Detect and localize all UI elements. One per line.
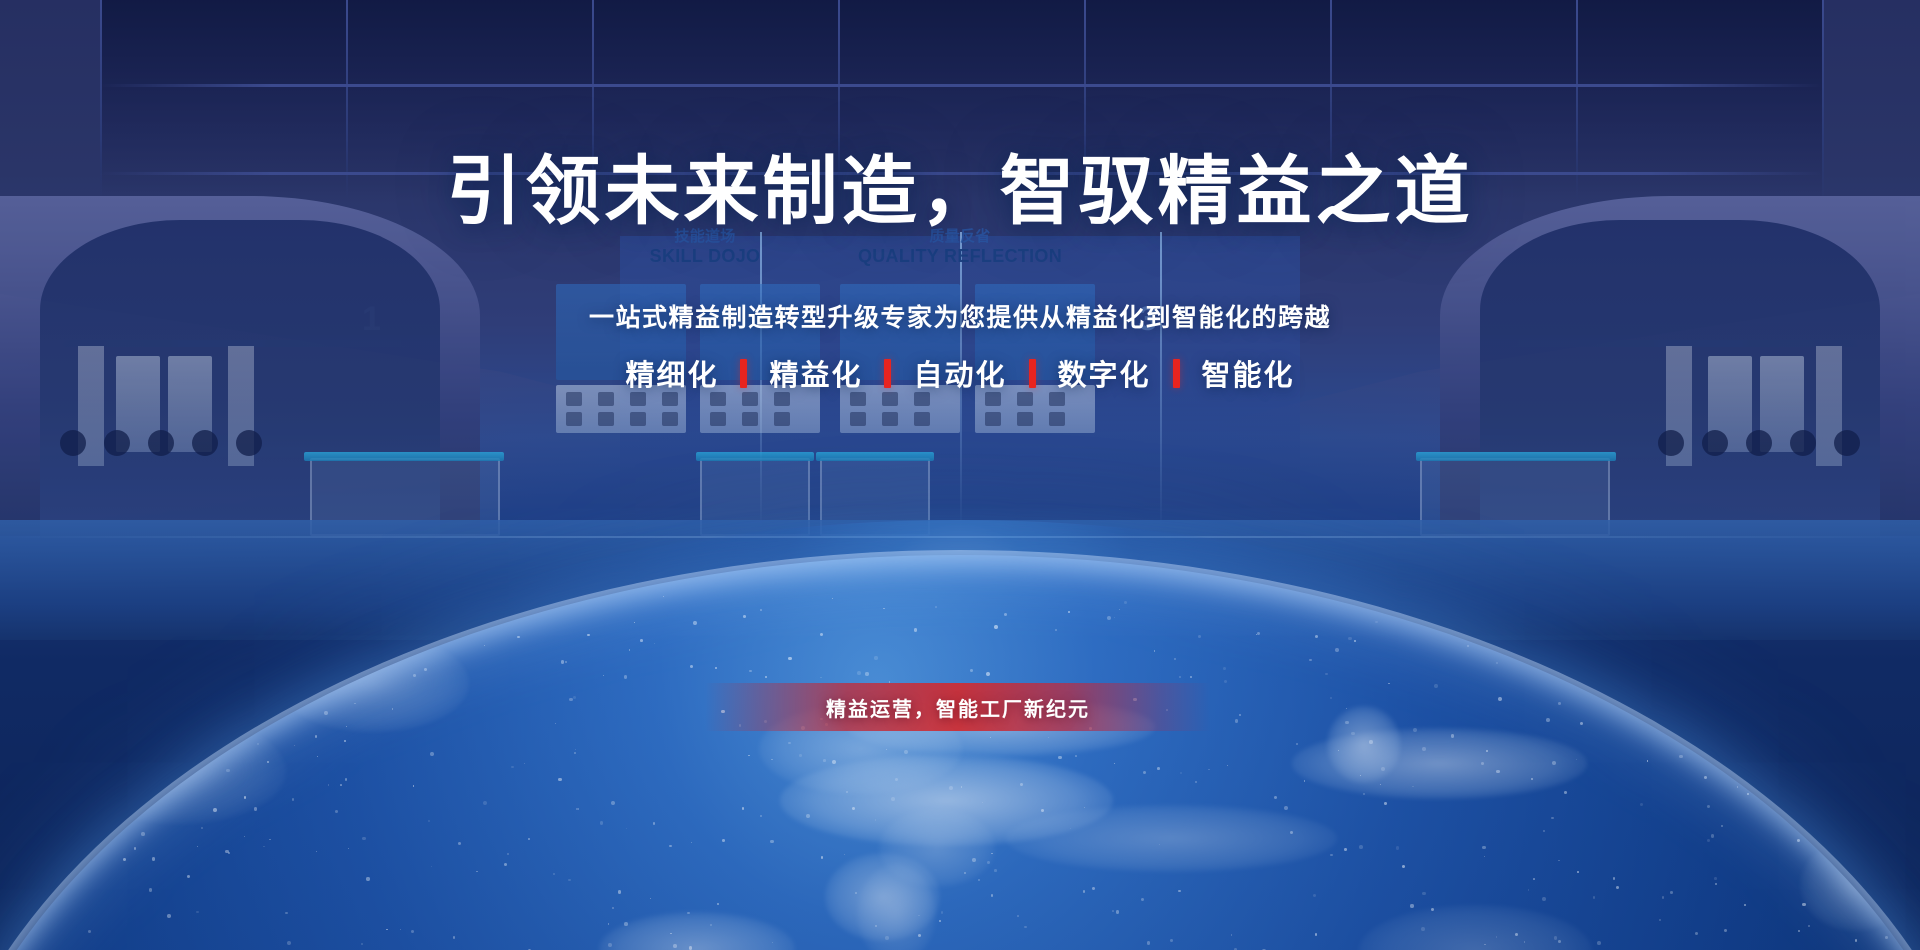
keyword-list: 精细化精益化自动化数字化智能化 xyxy=(0,352,1920,394)
hero-banner: 技能道场 SKILL DOJO 质量反省 QUALITY REFLECTION … xyxy=(0,0,1920,950)
keyword-item: 精细化 xyxy=(603,352,740,394)
keyword-item: 精益化 xyxy=(747,352,884,394)
keyword-item: 自动化 xyxy=(891,352,1028,394)
keyword-separator xyxy=(884,359,891,388)
banner-subtitle: 一站式精益制造转型升级专家为您提供从精益化到智能化的跨越 xyxy=(0,298,1920,334)
keyword-separator xyxy=(1173,359,1180,388)
keyword-item: 数字化 xyxy=(1036,352,1173,394)
banner-content: 引领未来制造，智驭精益之道 一站式精益制造转型升级专家为您提供从精益化到智能化的… xyxy=(0,0,1920,950)
keyword-item: 智能化 xyxy=(1180,352,1317,394)
tagline-badge: 精益运营，智能工厂新纪元 xyxy=(705,683,1211,731)
keyword-separator xyxy=(740,359,747,388)
keyword-separator xyxy=(1029,359,1036,388)
page-title: 引领未来制造，智驭精益之道 xyxy=(0,130,1920,239)
tagline-badge-label: 精益运营，智能工厂新纪元 xyxy=(826,693,1090,722)
